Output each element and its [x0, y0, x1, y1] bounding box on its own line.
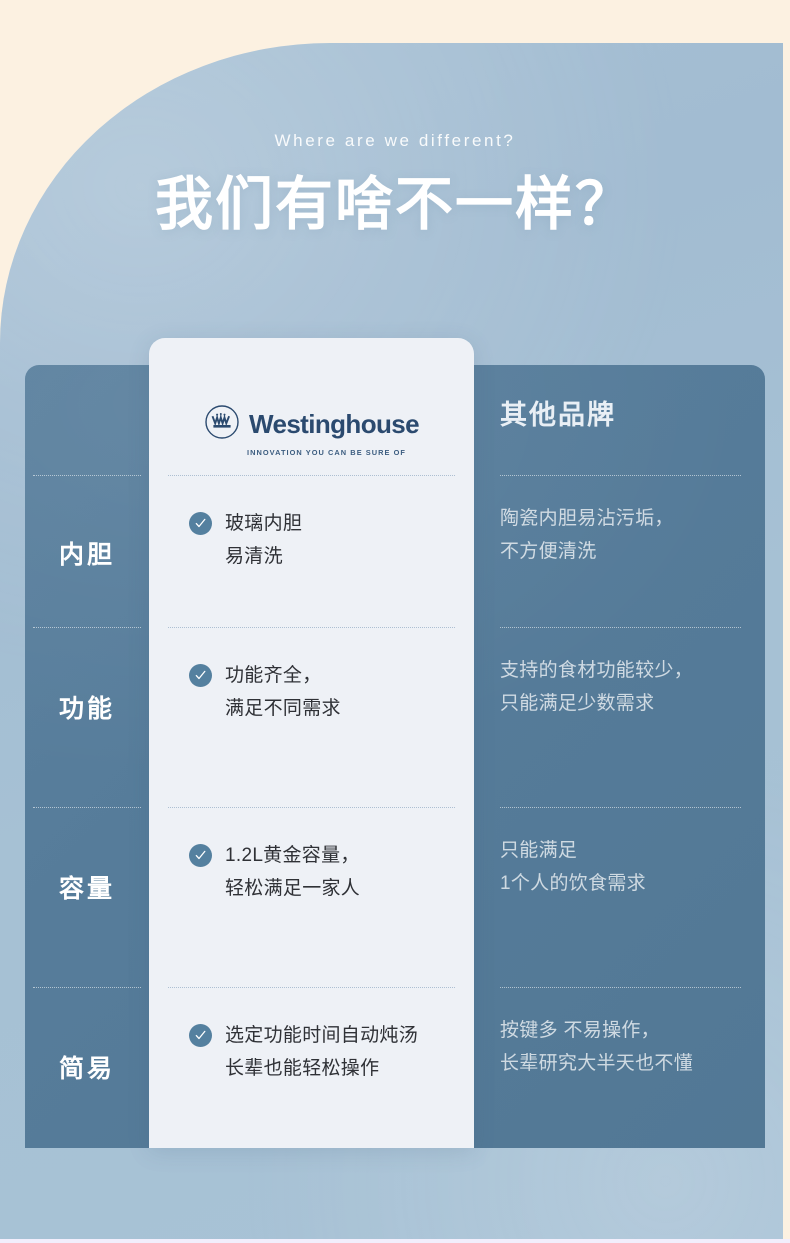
row-category-label: 功能	[25, 689, 149, 725]
check-icon	[189, 512, 212, 535]
table-row: 容量 1.2L黄金容量， 轻松满足一家人 只能满足 1个人的饮食需求	[25, 807, 765, 987]
promo-page: Where are we different? 我们有啥不一样？	[0, 0, 790, 1243]
comparison-table: Westinghouse INNOVATION YOU CAN BE SURE …	[25, 365, 765, 1148]
row-ours-cell: 玻璃内胆 易清洗	[149, 507, 474, 573]
row-ours-text: 1.2L黄金容量， 轻松满足一家人	[225, 839, 360, 905]
row-ours-cell: 选定功能时间自动炖汤 长辈也能轻松操作	[149, 1019, 474, 1085]
table-row: 功能 功能齐全， 满足不同需求 支持的食材功能较少， 只能满足少数需求	[25, 627, 765, 807]
row-divider-mid	[168, 475, 455, 476]
row-theirs-text: 陶瓷内胆易沾污垢， 不方便清洗	[500, 502, 755, 568]
row-divider-left	[33, 475, 141, 476]
table-row: 简易 选定功能时间自动炖汤 长辈也能轻松操作 按键多 不易操作， 长辈研究大半天…	[25, 987, 765, 1148]
row-category-label: 内胆	[25, 535, 149, 571]
row-theirs-text: 按键多 不易操作， 长辈研究大半天也不懂	[500, 1014, 755, 1080]
check-icon	[189, 664, 212, 687]
row-ours-text: 选定功能时间自动炖汤 长辈也能轻松操作	[225, 1019, 418, 1085]
table-row: 内胆 玻璃内胆 易清洗 陶瓷内胆易沾污垢， 不方便清洗	[25, 365, 765, 627]
row-ours-text: 玻璃内胆 易清洗	[225, 507, 302, 573]
row-theirs-text: 只能满足 1个人的饮食需求	[500, 834, 755, 900]
row-category-label: 简易	[25, 1049, 149, 1085]
row-category-label: 容量	[25, 869, 149, 905]
row-theirs-text: 支持的食材功能较少， 只能满足少数需求	[500, 654, 755, 720]
row-ours-cell: 功能齐全， 满足不同需求	[149, 659, 474, 725]
page-header: Where are we different? 我们有啥不一样？	[0, 128, 790, 240]
row-divider-right	[500, 475, 741, 476]
check-icon	[189, 1024, 212, 1047]
header-eyebrow: Where are we different?	[0, 128, 790, 154]
bottom-strip	[0, 1239, 790, 1243]
row-ours-cell: 1.2L黄金容量， 轻松满足一家人	[149, 839, 474, 905]
comparison-rows: 内胆 玻璃内胆 易清洗 陶瓷内胆易沾污垢， 不方便清洗 功能	[25, 365, 765, 1148]
check-icon	[189, 844, 212, 867]
page-title: 我们有啥不一样？	[0, 170, 790, 240]
row-ours-text: 功能齐全， 满足不同需求	[225, 659, 341, 725]
